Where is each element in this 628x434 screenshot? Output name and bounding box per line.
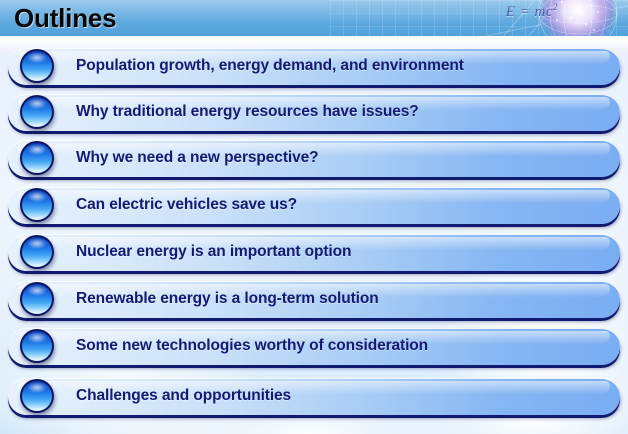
list-item-label: Can electric vehicles save us? bbox=[76, 187, 297, 223]
bullet-orb-gloss bbox=[27, 98, 47, 109]
list-item[interactable]: Nuclear energy is an important option bbox=[8, 234, 620, 272]
list-item-label: Population growth, energy demand, and en… bbox=[76, 48, 464, 84]
list-item[interactable]: Why we need a new perspective? bbox=[8, 140, 620, 178]
bullet-orb-icon bbox=[20, 141, 54, 175]
list-item-label: Why traditional energy resources have is… bbox=[76, 94, 419, 130]
list-item-label: Nuclear energy is an important option bbox=[76, 234, 351, 270]
outline-list: Population growth, energy demand, and en… bbox=[0, 0, 628, 434]
bullet-orb-gloss bbox=[27, 332, 47, 343]
list-item-label: Why we need a new perspective? bbox=[76, 140, 319, 176]
bullet-orb-gloss bbox=[27, 191, 47, 202]
bullet-orb-icon bbox=[20, 235, 54, 269]
bullet-orb-icon bbox=[20, 329, 54, 363]
bullet-orb-icon bbox=[20, 379, 54, 413]
bullet-orb-gloss bbox=[27, 238, 47, 249]
bullet-orb-gloss bbox=[27, 382, 47, 393]
bullet-orb-icon bbox=[20, 188, 54, 222]
list-item[interactable]: Some new technologies worthy of consider… bbox=[8, 328, 620, 366]
list-item[interactable]: Population growth, energy demand, and en… bbox=[8, 48, 620, 86]
bullet-orb-icon bbox=[20, 49, 54, 83]
slide-canvas: E = mc2 Outlines Population growth, ener… bbox=[0, 0, 628, 434]
bullet-orb-icon bbox=[20, 282, 54, 316]
bullet-orb-gloss bbox=[27, 144, 47, 155]
list-item-label: Challenges and opportunities bbox=[76, 378, 291, 414]
list-item[interactable]: Renewable energy is a long-term solution bbox=[8, 281, 620, 319]
bullet-orb-icon bbox=[20, 95, 54, 129]
bullet-orb-gloss bbox=[27, 285, 47, 296]
list-item[interactable]: Why traditional energy resources have is… bbox=[8, 94, 620, 132]
list-item[interactable]: Challenges and opportunities bbox=[8, 378, 620, 416]
list-item-label: Some new technologies worthy of consider… bbox=[76, 328, 428, 364]
list-item[interactable]: Can electric vehicles save us? bbox=[8, 187, 620, 225]
list-item-label: Renewable energy is a long-term solution bbox=[76, 281, 379, 317]
bullet-orb-gloss bbox=[27, 52, 47, 63]
